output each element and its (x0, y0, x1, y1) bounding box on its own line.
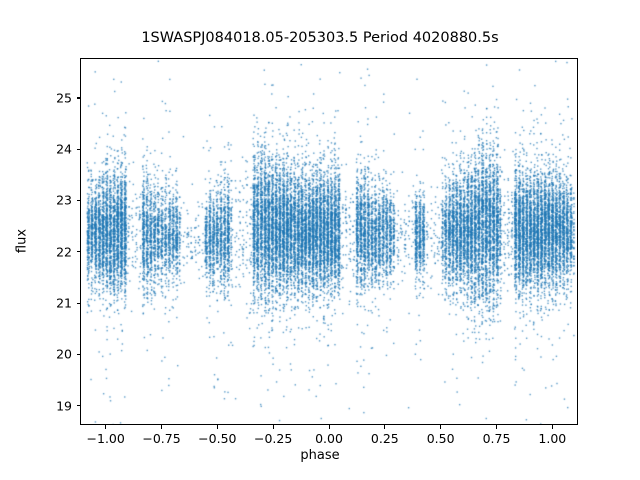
y-tick-mark (77, 97, 81, 98)
x-tick-mark (552, 425, 553, 429)
y-tick-label: 20 (38, 347, 72, 362)
x-tick-label: −0.50 (198, 431, 236, 446)
x-tick-label: 0.00 (315, 431, 343, 446)
x-tick-label: 1.00 (538, 431, 566, 446)
y-tick-mark (77, 303, 81, 304)
y-tick-mark (77, 405, 81, 406)
y-tick-mark (77, 251, 81, 252)
x-tick-label: 0.25 (371, 431, 399, 446)
x-tick-mark (273, 425, 274, 429)
y-tick-label: 23 (38, 193, 72, 208)
scatter-points-layer (81, 59, 578, 425)
x-tick-label: 0.50 (427, 431, 455, 446)
y-tick-label: 24 (38, 142, 72, 157)
y-tick-label: 19 (38, 398, 72, 413)
x-tick-mark (384, 425, 385, 429)
x-tick-label: −1.00 (87, 431, 125, 446)
x-tick-mark (440, 425, 441, 429)
x-tick-mark (105, 425, 106, 429)
x-tick-mark (161, 425, 162, 429)
x-tick-mark (329, 425, 330, 429)
plot-area (80, 58, 578, 425)
y-tick-mark (77, 200, 81, 201)
y-tick-label: 21 (38, 296, 72, 311)
y-tick-mark (77, 354, 81, 355)
x-tick-label: 0.75 (483, 431, 511, 446)
x-tick-mark (496, 425, 497, 429)
x-tick-mark (217, 425, 218, 429)
x-tick-label: −0.75 (142, 431, 180, 446)
y-tick-label: 25 (38, 90, 72, 105)
figure-canvas: 1SWASPJ084018.05-205303.5 Period 4020880… (0, 0, 640, 480)
x-tick-label: −0.25 (254, 431, 292, 446)
y-tick-label: 22 (38, 244, 72, 259)
y-axis-label: flux (15, 229, 30, 253)
x-axis-label: phase (0, 448, 640, 463)
chart-title: 1SWASPJ084018.05-205303.5 Period 4020880… (0, 30, 640, 46)
y-tick-mark (77, 149, 81, 150)
